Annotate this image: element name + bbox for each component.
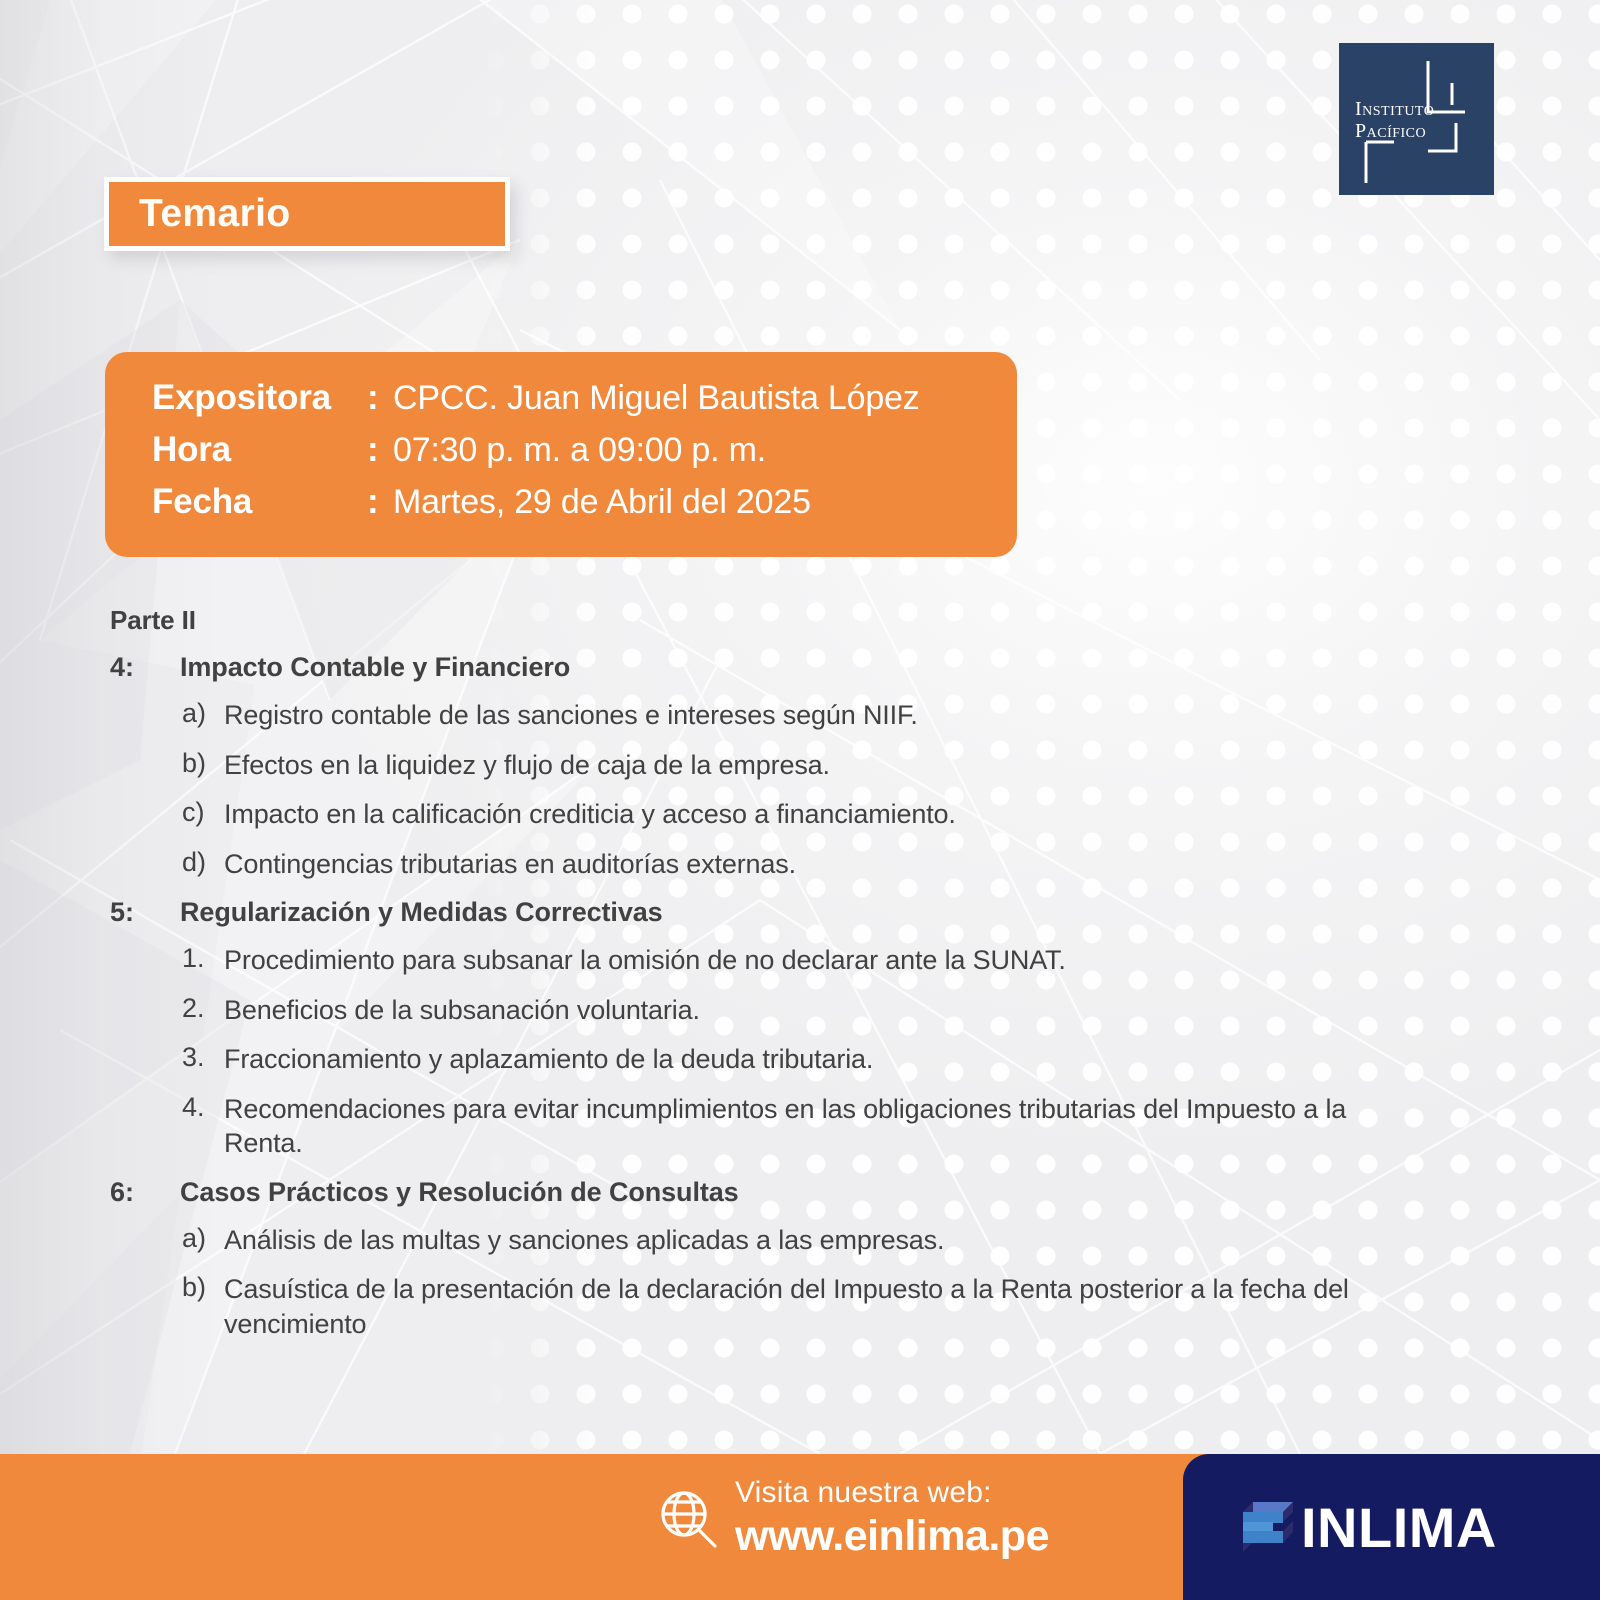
list-item-text: Impacto en la calificación crediticia y …	[224, 797, 956, 832]
info-colon: :	[367, 430, 393, 470]
info-colon: :	[367, 482, 393, 522]
footer-web-url[interactable]: www.einlima.pe	[735, 1512, 1049, 1561]
info-row: Expositora : CPCC. Juan Miguel Bautista …	[152, 378, 1017, 430]
section-number: 5:	[110, 897, 180, 928]
list-item-text: Fraccionamiento y aplazamiento de la deu…	[224, 1042, 873, 1077]
list-item-marker: d)	[182, 847, 224, 882]
ip-logo-line2: Pacífico	[1355, 121, 1434, 141]
info-label-fecha: Fecha	[152, 482, 367, 522]
list-item: b) Casuística de la presentación de la d…	[182, 1272, 1600, 1341]
list-item-text: Análisis de las multas y sanciones aplic…	[224, 1223, 944, 1258]
agenda-section-heading-row: 4: Impacto Contable y Financiero	[0, 652, 1600, 683]
list-item: b) Efectos en la liquidez y flujo de caj…	[182, 748, 1600, 783]
info-label-hora: Hora	[152, 430, 367, 470]
list-item: 2. Beneficios de la subsanación voluntar…	[182, 993, 1600, 1028]
list-item-marker: 4.	[182, 1092, 224, 1161]
info-value-expositora: CPCC. Juan Miguel Bautista López	[393, 379, 920, 418]
list-item: c) Impacto en la calificación crediticia…	[182, 797, 1600, 832]
einlima-wordmark: INLIMA	[1301, 1495, 1497, 1560]
ip-logo-line1: Instituto	[1355, 99, 1434, 119]
info-label-expositora: Expositora	[152, 378, 367, 418]
info-colon: :	[367, 378, 393, 418]
agenda-section-heading-row: 5: Regularización y Medidas Correctivas	[0, 897, 1600, 928]
list-item: a) Análisis de las multas y sanciones ap…	[182, 1223, 1600, 1258]
info-row: Fecha : Martes, 29 de Abril del 2025	[152, 482, 1017, 534]
list-item-text: Efectos en la liquidez y flujo de caja d…	[224, 748, 830, 783]
footer-web-prompt: Visita nuestra web:	[735, 1476, 1049, 1510]
agenda-list: Parte II 4: Impacto Contable y Financier…	[0, 605, 1600, 1342]
temario-label: Temario	[139, 192, 291, 236]
list-item: d) Contingencias tributarias en auditorí…	[182, 847, 1600, 882]
agenda-section-heading-row: 6: Casos Prácticos y Resolución de Consu…	[0, 1177, 1600, 1208]
list-item: 3. Fraccionamiento y aplazamiento de la …	[182, 1042, 1600, 1077]
list-item-text: Registro contable de las sanciones e int…	[224, 698, 918, 733]
globe-search-icon	[655, 1486, 721, 1552]
einlima-brand-block: INLIMA	[1183, 1454, 1600, 1600]
section-number: 4:	[110, 652, 180, 683]
section-number: 6:	[110, 1177, 180, 1208]
list-item-marker: b)	[182, 748, 224, 783]
section-heading: Casos Prácticos y Resolución de Consulta…	[180, 1177, 739, 1208]
list-item-marker: 1.	[182, 943, 224, 978]
info-value-hora: 07:30 p. m. a 09:00 p. m.	[393, 431, 766, 470]
instituto-pacifico-logo: Instituto Pacífico	[1339, 43, 1494, 195]
list-item-marker: a)	[182, 698, 224, 733]
e-cube-icon	[1239, 1498, 1297, 1556]
section-heading: Impacto Contable y Financiero	[180, 652, 570, 683]
part-title: Parte II	[110, 605, 1600, 636]
list-item-text: Beneficios de la subsanación voluntaria.	[224, 993, 700, 1028]
section-heading: Regularización y Medidas Correctivas	[180, 897, 663, 928]
list-item: a) Registro contable de las sanciones e …	[182, 698, 1600, 733]
footer-bar: Visita nuestra web: www.einlima.pe INLIM…	[0, 1454, 1600, 1600]
list-item-text: Casuística de la presentación de la decl…	[224, 1272, 1419, 1341]
list-item-marker: c)	[182, 797, 224, 832]
info-row: Hora : 07:30 p. m. a 09:00 p. m.	[152, 430, 1017, 482]
footer-website-group[interactable]: Visita nuestra web: www.einlima.pe	[655, 1476, 1049, 1561]
list-item-marker: a)	[182, 1223, 224, 1258]
list-item-text: Contingencias tributarias en auditorías …	[224, 847, 796, 882]
list-item-marker: 3.	[182, 1042, 224, 1077]
list-item-text: Procedimiento para subsanar la omisión d…	[224, 943, 1066, 978]
info-value-fecha: Martes, 29 de Abril del 2025	[393, 483, 811, 522]
list-item-text: Recomendaciones para evitar incumplimien…	[224, 1092, 1419, 1161]
list-item: 1. Procedimiento para subsanar la omisió…	[182, 943, 1600, 978]
list-item-marker: b)	[182, 1272, 224, 1341]
event-info-box: Expositora : CPCC. Juan Miguel Bautista …	[105, 352, 1017, 557]
list-item: 4. Recomendaciones para evitar incumplim…	[182, 1092, 1600, 1161]
temario-tag: Temario	[104, 177, 510, 251]
list-item-marker: 2.	[182, 993, 224, 1028]
